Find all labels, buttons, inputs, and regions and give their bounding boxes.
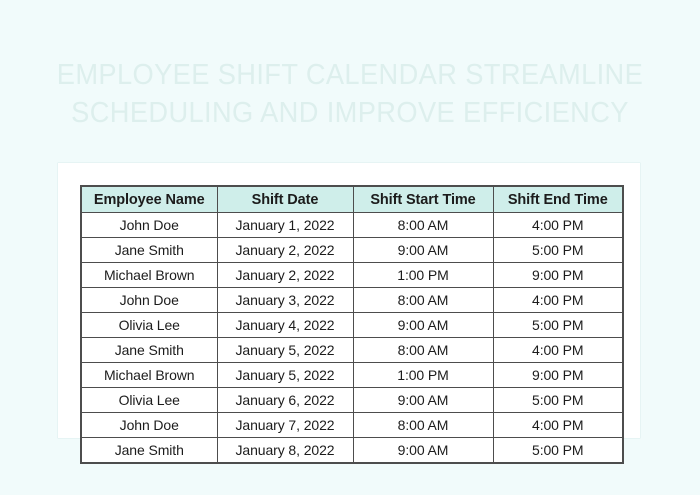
cell-shift-date: January 7, 2022 (217, 413, 353, 438)
cell-shift-end-time: 9:00 PM (493, 363, 623, 388)
cell-shift-start-time: 8:00 AM (353, 213, 493, 238)
cell-employee-name: John Doe (81, 213, 217, 238)
cell-shift-date: January 3, 2022 (217, 288, 353, 313)
page-title: EMPLOYEE SHIFT CALENDAR STREAMLINE SCHED… (0, 56, 700, 132)
cell-shift-end-time: 4:00 PM (493, 413, 623, 438)
cell-employee-name: Jane Smith (81, 238, 217, 263)
table-row: Olivia Lee January 6, 2022 9:00 AM 5:00 … (81, 388, 623, 413)
table-row: Jane Smith January 5, 2022 8:00 AM 4:00 … (81, 338, 623, 363)
cell-shift-end-time: 5:00 PM (493, 238, 623, 263)
table-row: Jane Smith January 2, 2022 9:00 AM 5:00 … (81, 238, 623, 263)
cell-shift-start-time: 8:00 AM (353, 288, 493, 313)
column-header-employee-name: Employee Name (81, 186, 217, 213)
cell-shift-start-time: 8:00 AM (353, 413, 493, 438)
page-title-line-1: EMPLOYEE SHIFT CALENDAR STREAMLINE (21, 56, 679, 94)
cell-shift-date: January 5, 2022 (217, 338, 353, 363)
cell-employee-name: Michael Brown (81, 363, 217, 388)
column-header-shift-end-time: Shift End Time (493, 186, 623, 213)
cell-employee-name: Michael Brown (81, 263, 217, 288)
cell-shift-date: January 1, 2022 (217, 213, 353, 238)
cell-shift-start-time: 8:00 AM (353, 338, 493, 363)
shift-schedule-table: Employee Name Shift Date Shift Start Tim… (80, 185, 624, 464)
shift-table-container: Employee Name Shift Date Shift Start Tim… (80, 185, 622, 464)
cell-shift-end-time: 5:00 PM (493, 388, 623, 413)
table-body: John Doe January 1, 2022 8:00 AM 4:00 PM… (81, 213, 623, 464)
column-header-shift-start-time: Shift Start Time (353, 186, 493, 213)
cell-shift-start-time: 9:00 AM (353, 388, 493, 413)
cell-employee-name: John Doe (81, 413, 217, 438)
cell-shift-end-time: 5:00 PM (493, 438, 623, 464)
table-header-row: Employee Name Shift Date Shift Start Tim… (81, 186, 623, 213)
cell-shift-date: January 8, 2022 (217, 438, 353, 464)
cell-shift-start-time: 9:00 AM (353, 313, 493, 338)
table-row: Michael Brown January 5, 2022 1:00 PM 9:… (81, 363, 623, 388)
cell-shift-start-time: 9:00 AM (353, 438, 493, 464)
table-row: John Doe January 1, 2022 8:00 AM 4:00 PM (81, 213, 623, 238)
cell-shift-start-time: 1:00 PM (353, 263, 493, 288)
cell-shift-end-time: 5:00 PM (493, 313, 623, 338)
column-header-shift-date: Shift Date (217, 186, 353, 213)
cell-shift-date: January 4, 2022 (217, 313, 353, 338)
table-row: John Doe January 3, 2022 8:00 AM 4:00 PM (81, 288, 623, 313)
cell-employee-name: Jane Smith (81, 438, 217, 464)
cell-shift-date: January 2, 2022 (217, 238, 353, 263)
table-row: John Doe January 7, 2022 8:00 AM 4:00 PM (81, 413, 623, 438)
table-row: Jane Smith January 8, 2022 9:00 AM 5:00 … (81, 438, 623, 464)
cell-shift-date: January 6, 2022 (217, 388, 353, 413)
page-title-line-2: SCHEDULING AND IMPROVE EFFICIENCY (21, 94, 679, 132)
cell-employee-name: Olivia Lee (81, 313, 217, 338)
table-row: Michael Brown January 2, 2022 1:00 PM 9:… (81, 263, 623, 288)
cell-shift-end-time: 4:00 PM (493, 213, 623, 238)
cell-employee-name: Olivia Lee (81, 388, 217, 413)
cell-shift-end-time: 4:00 PM (493, 288, 623, 313)
cell-shift-end-time: 9:00 PM (493, 263, 623, 288)
cell-shift-date: January 5, 2022 (217, 363, 353, 388)
cell-shift-start-time: 1:00 PM (353, 363, 493, 388)
cell-employee-name: Jane Smith (81, 338, 217, 363)
page-root: EMPLOYEE SHIFT CALENDAR STREAMLINE SCHED… (0, 0, 700, 495)
cell-shift-end-time: 4:00 PM (493, 338, 623, 363)
cell-shift-start-time: 9:00 AM (353, 238, 493, 263)
cell-shift-date: January 2, 2022 (217, 263, 353, 288)
table-row: Olivia Lee January 4, 2022 9:00 AM 5:00 … (81, 313, 623, 338)
cell-employee-name: John Doe (81, 288, 217, 313)
table-header: Employee Name Shift Date Shift Start Tim… (81, 186, 623, 213)
